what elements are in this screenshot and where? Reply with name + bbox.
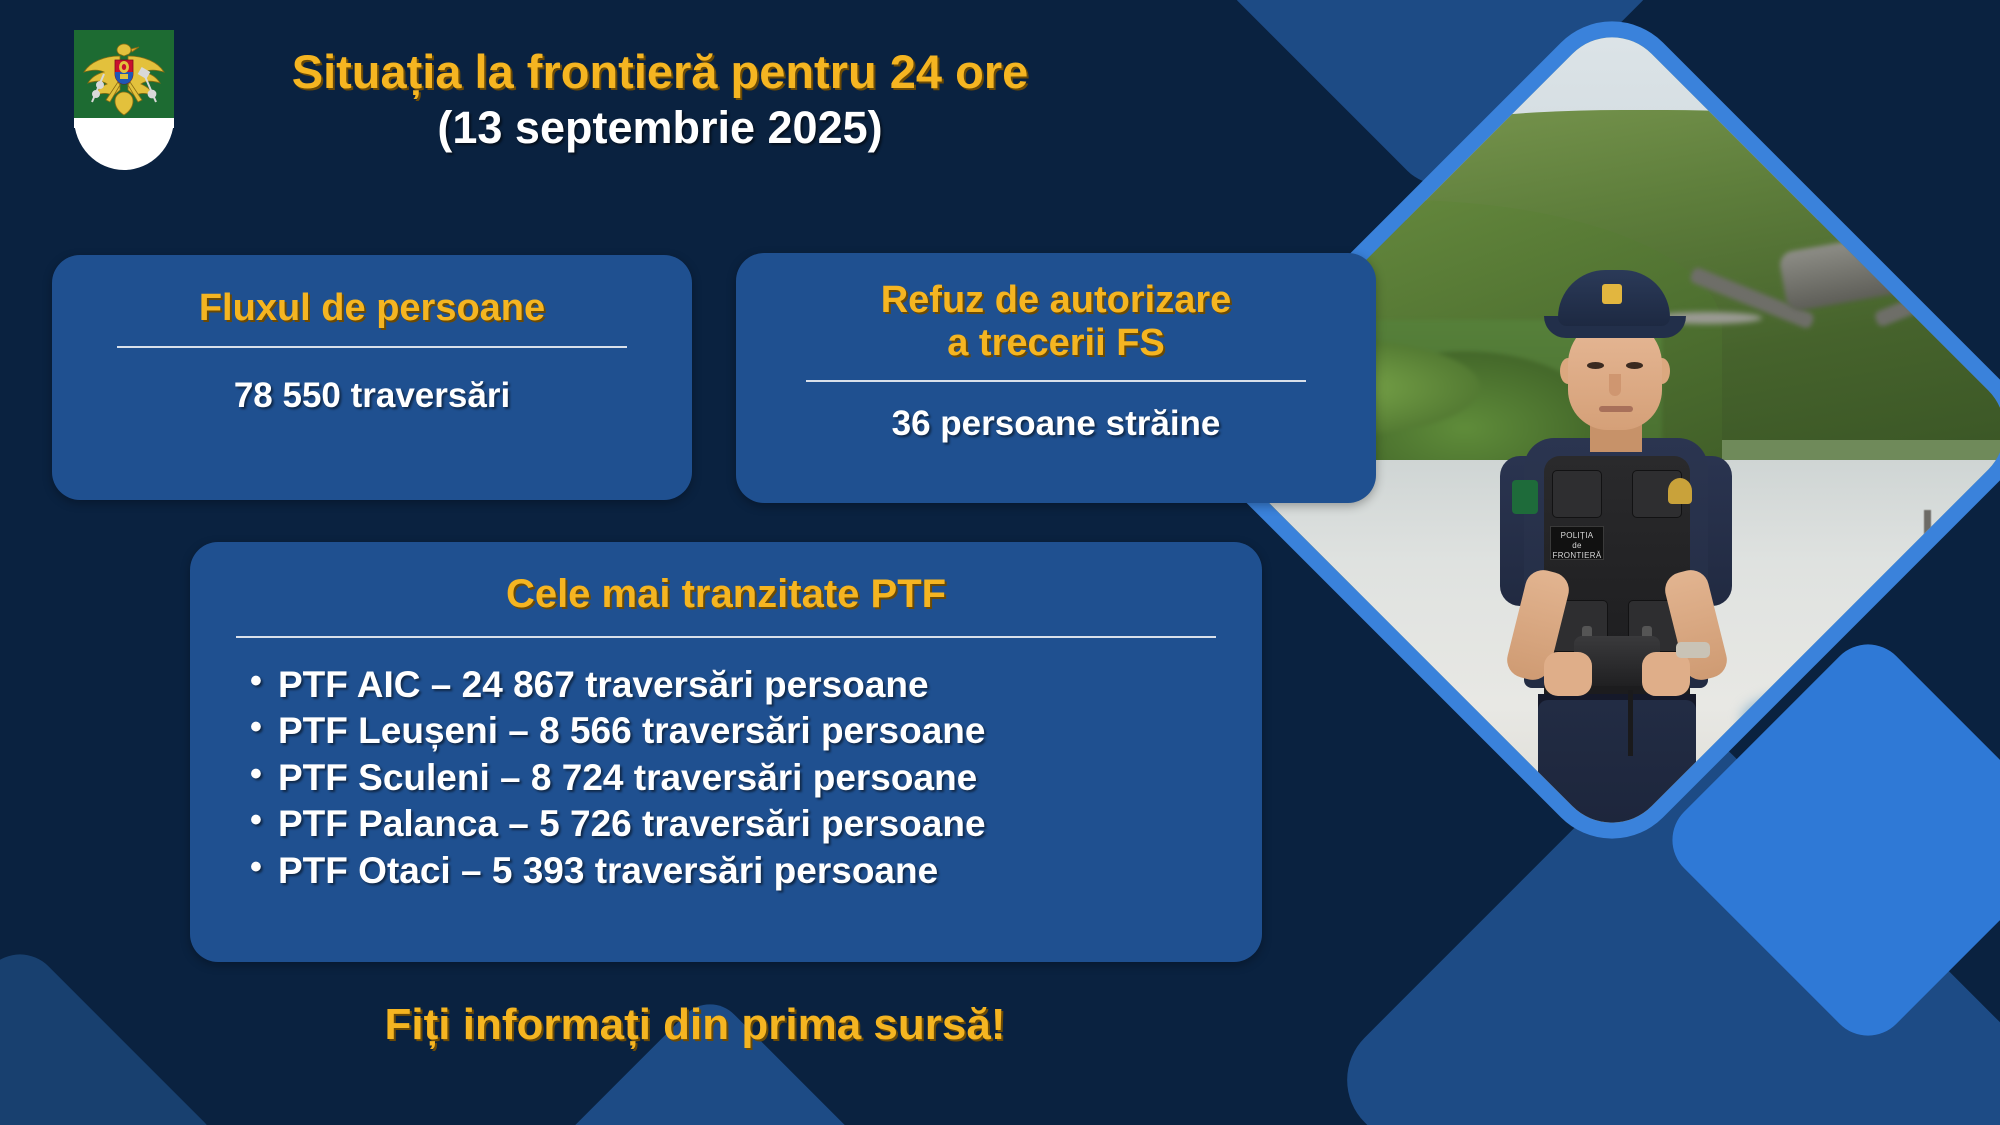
- card-entry-refusal: Refuz de autorizare a trecerii FS 36 per…: [736, 253, 1376, 503]
- card-entry-refusal-divider: [806, 380, 1306, 382]
- list-item: PTF Otaci – 5 393 traversări persoane: [250, 848, 1262, 895]
- infographic-canvas: POLIȚIA de FRONTIERĂ: [0, 0, 2000, 1125]
- vest-pocket-1: [1552, 470, 1602, 518]
- card-entry-refusal-value: 36 persoane străine: [736, 404, 1376, 444]
- list-item: PTF Sculeni – 8 724 traversări persoane: [250, 755, 1262, 802]
- card-entry-refusal-title-line1: Refuz de autorizare: [881, 279, 1232, 321]
- vest-patch-line1: POLIȚIA: [1561, 531, 1594, 540]
- page-subtitle: (13 septembrie 2025): [0, 103, 1250, 153]
- officer-nose: [1609, 374, 1621, 396]
- list-item: PTF Palanca – 5 726 traversări persoane: [250, 801, 1262, 848]
- vest-patch-line2: de FRONTIERĂ: [1553, 541, 1602, 560]
- card-person-flow-title: Fluxul de persoane: [52, 255, 692, 330]
- list-item: PTF Leușeni – 8 566 traversări persoane: [250, 708, 1262, 755]
- officer-hand-left: [1544, 652, 1592, 696]
- card-person-flow-divider: [117, 346, 627, 348]
- card-entry-refusal-title-line2: a trecerii FS: [947, 322, 1165, 364]
- card-busiest-crossings-divider: [236, 636, 1216, 638]
- vest-patch-label: POLIȚIA de FRONTIERĂ: [1550, 526, 1604, 560]
- officer-eye-right: [1626, 362, 1643, 369]
- page-title: Situația la frontieră pentru 24 ore: [0, 46, 1250, 99]
- card-person-flow-value: 78 550 traversări: [52, 376, 692, 416]
- ptf-list: PTF AIC – 24 867 traversări persoane PTF…: [250, 662, 1262, 895]
- officer-photo-inner: POLIȚIA de FRONTIERĂ: [1302, 120, 1922, 740]
- officer-hand-right: [1642, 652, 1690, 696]
- header: Situația la frontieră pentru 24 ore (13 …: [0, 46, 1250, 153]
- card-busiest-crossings: Cele mai tranzitate PTF PTF AIC – 24 867…: [190, 542, 1262, 962]
- list-item: PTF AIC – 24 867 traversări persoane: [250, 662, 1262, 709]
- officer-eye-left: [1587, 362, 1604, 369]
- shoulder-patch: [1512, 480, 1538, 514]
- card-person-flow: Fluxul de persoane 78 550 traversări: [52, 255, 692, 500]
- drone-propeller-right: [1932, 312, 2000, 324]
- card-entry-refusal-title: Refuz de autorizare a trecerii FS: [736, 253, 1376, 366]
- officer-mouth: [1599, 406, 1633, 412]
- radio-antenna: [1628, 690, 1633, 756]
- footer-slogan: Fiți informați din prima sursă!: [0, 1000, 1390, 1050]
- wristwatch-icon: [1676, 642, 1710, 658]
- chest-badge-icon: [1668, 478, 1692, 504]
- card-busiest-crossings-title: Cele mai tranzitate PTF: [190, 542, 1262, 618]
- cap-badge-icon: [1602, 284, 1622, 304]
